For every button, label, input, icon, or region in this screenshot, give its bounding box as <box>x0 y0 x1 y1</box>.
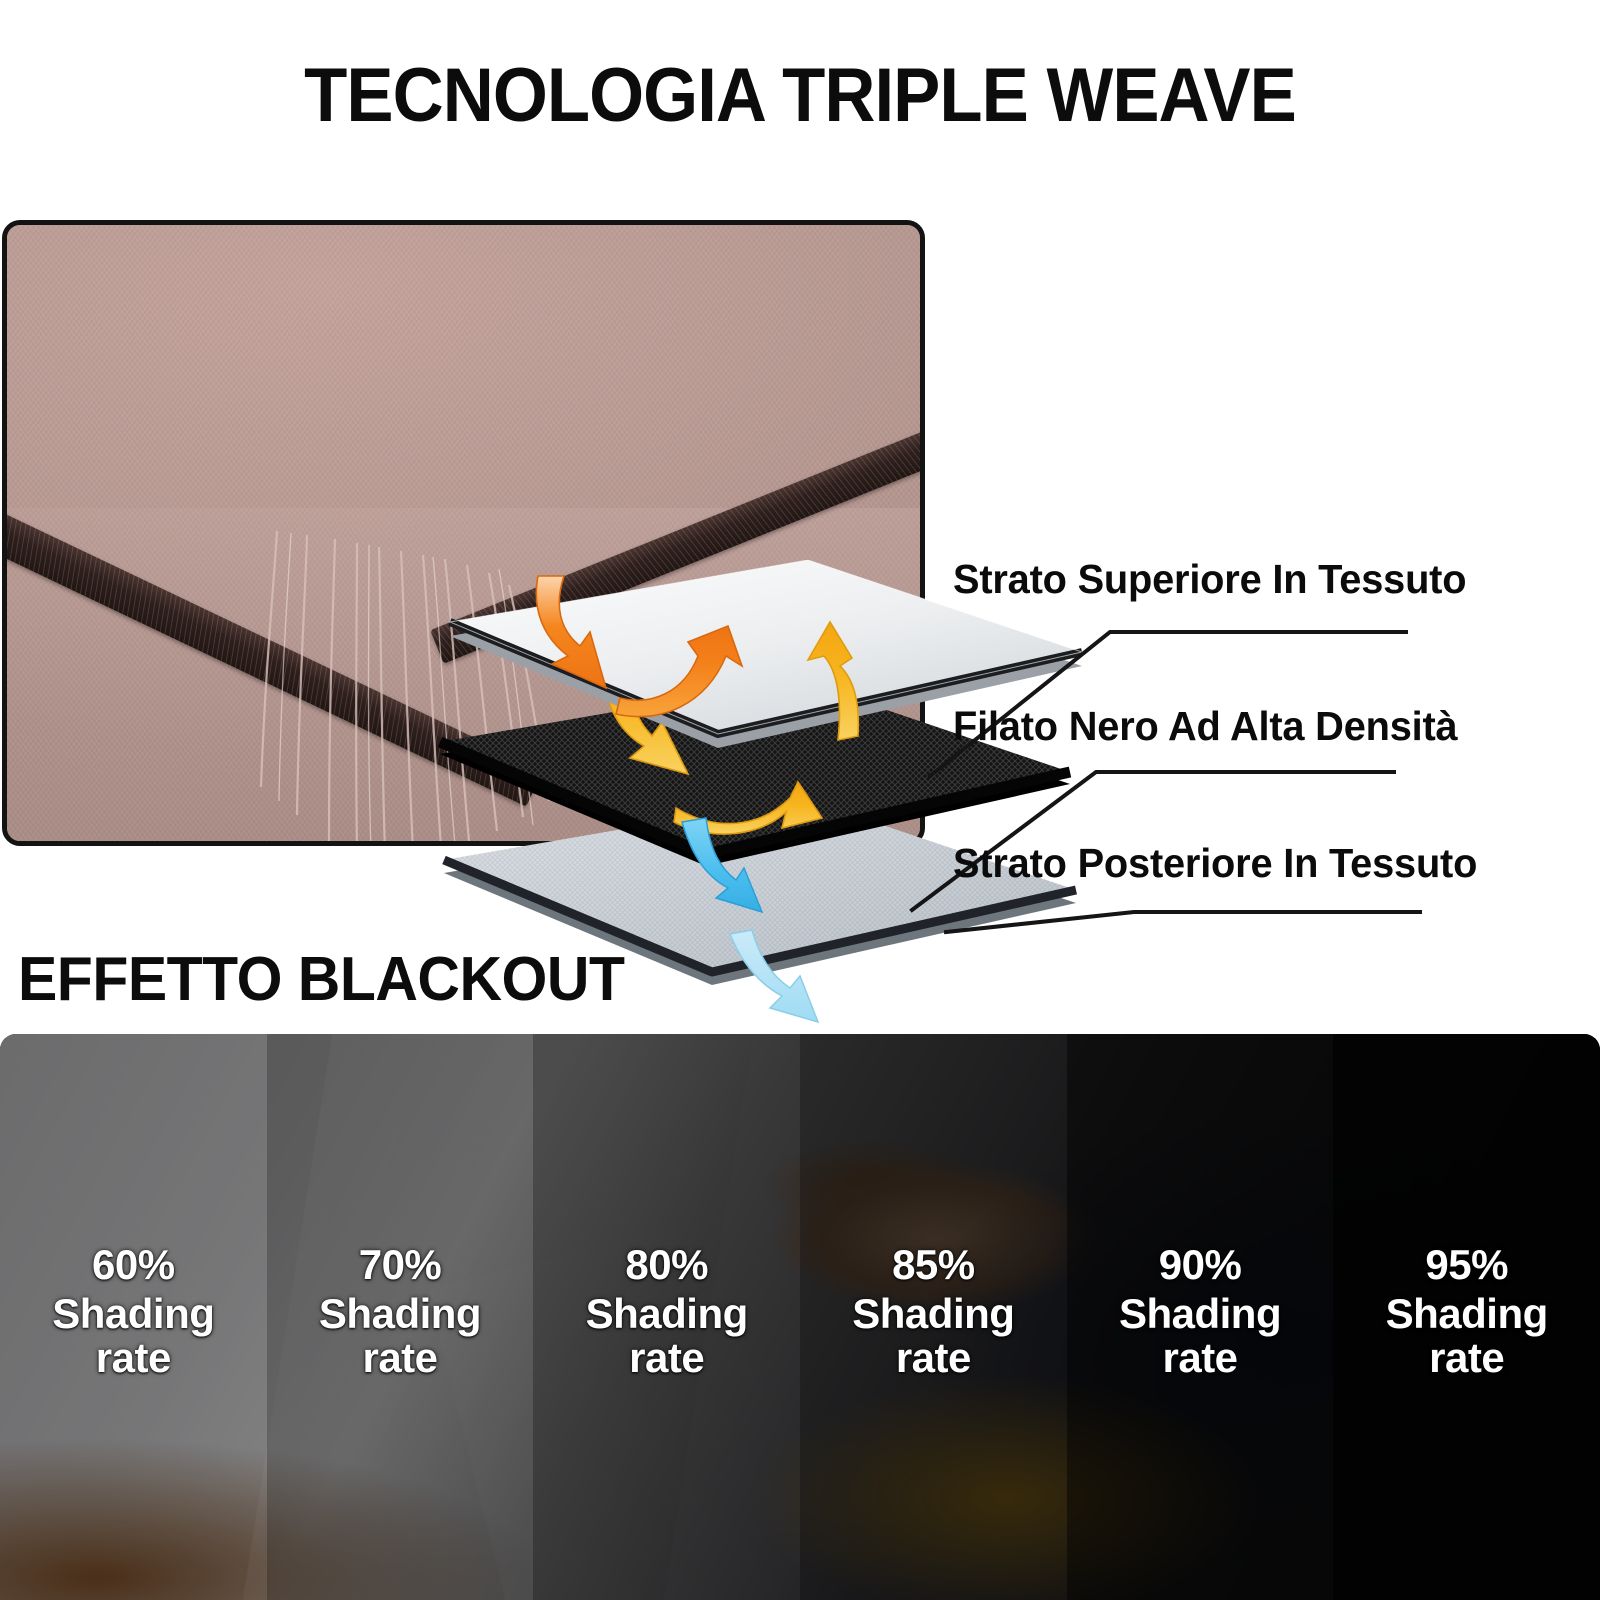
shading-panel-85: 85%Shadingrate <box>800 1034 1067 1600</box>
shading-rate-line1: Shading <box>1119 1292 1281 1335</box>
shading-panel-label: 80%Shadingrate <box>586 1243 748 1379</box>
shading-panel-60: 60%Shadingrate <box>0 1034 267 1600</box>
shading-panel-label: 90%Shadingrate <box>1119 1243 1281 1379</box>
blackout-section-title: EFFETTO BLACKOUT <box>18 944 624 1015</box>
shading-panel-label: 95%Shadingrate <box>1386 1243 1548 1379</box>
shading-percent: 95% <box>1386 1243 1548 1286</box>
shading-rate-line2: rate <box>586 1336 748 1379</box>
shading-panel-95: 95%Shadingrate <box>1333 1034 1600 1600</box>
shading-rate-line2: rate <box>319 1336 481 1379</box>
shading-panel-label: 85%Shadingrate <box>852 1243 1014 1379</box>
shading-percent: 70% <box>319 1243 481 1286</box>
blackout-comparison-strip: 60%Shadingrate70%Shadingrate80%Shadingra… <box>0 1034 1600 1600</box>
shading-panel-90: 90%Shadingrate <box>1067 1034 1334 1600</box>
shading-rate-line2: rate <box>52 1336 214 1379</box>
shading-percent: 60% <box>52 1243 214 1286</box>
shading-rate-line2: rate <box>1119 1336 1281 1379</box>
shading-rate-line1: Shading <box>586 1292 748 1335</box>
shading-percent: 90% <box>1119 1243 1281 1286</box>
shading-rate-line2: rate <box>852 1336 1014 1379</box>
shading-panel-label: 70%Shadingrate <box>319 1243 481 1379</box>
callout-label-back-fabric: Strato Posteriore In Tessuto <box>953 840 1477 887</box>
shading-panel-row: 60%Shadingrate70%Shadingrate80%Shadingra… <box>0 1034 1600 1600</box>
shading-rate-line1: Shading <box>852 1292 1014 1335</box>
shading-rate-line1: Shading <box>319 1292 481 1335</box>
shading-percent: 80% <box>586 1243 748 1286</box>
shading-rate-line2: rate <box>1386 1336 1548 1379</box>
page-title: TECNOLOGIA TRIPLE WEAVE <box>56 58 1544 134</box>
callout-leader-lines <box>900 540 1600 960</box>
shading-panel-label: 60%Shadingrate <box>52 1243 214 1379</box>
callout-label-top-fabric: Strato Superiore In Tessuto <box>953 556 1466 603</box>
shading-panel-70: 70%Shadingrate <box>267 1034 534 1600</box>
shading-rate-line1: Shading <box>1386 1292 1548 1335</box>
shading-panel-80: 80%Shadingrate <box>533 1034 800 1600</box>
callout-label-black-yarn: Filato Nero Ad Alta Densità <box>953 703 1457 750</box>
shading-rate-line1: Shading <box>52 1292 214 1335</box>
shading-percent: 85% <box>852 1243 1014 1286</box>
